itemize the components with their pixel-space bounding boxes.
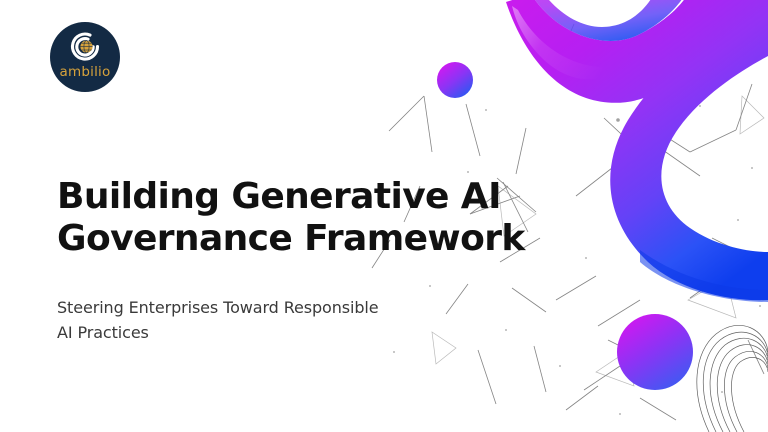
page-subtitle-line-2: AI Practices — [57, 321, 457, 346]
gradient-wave-ribbon — [506, 0, 768, 302]
ambilio-logo[interactable]: ambilio — [50, 22, 120, 92]
page-subtitle: Steering Enterprises Toward Responsible … — [57, 296, 457, 346]
page-title-line-1: Building Generative AI — [57, 176, 527, 218]
page-title: Building Generative AI Governance Framew… — [57, 176, 527, 260]
globe-spiral-icon — [63, 28, 107, 64]
slide-canvas: ambilio Building Generative AI Governanc… — [0, 0, 768, 432]
concentric-contour-lines — [697, 325, 768, 432]
page-subtitle-line-1: Steering Enterprises Toward Responsible — [57, 296, 457, 321]
gradient-sphere-large — [617, 314, 693, 390]
page-title-line-2: Governance Framework — [57, 218, 527, 260]
gradient-sphere-small — [437, 62, 473, 98]
logo-wordmark: ambilio — [50, 64, 120, 80]
